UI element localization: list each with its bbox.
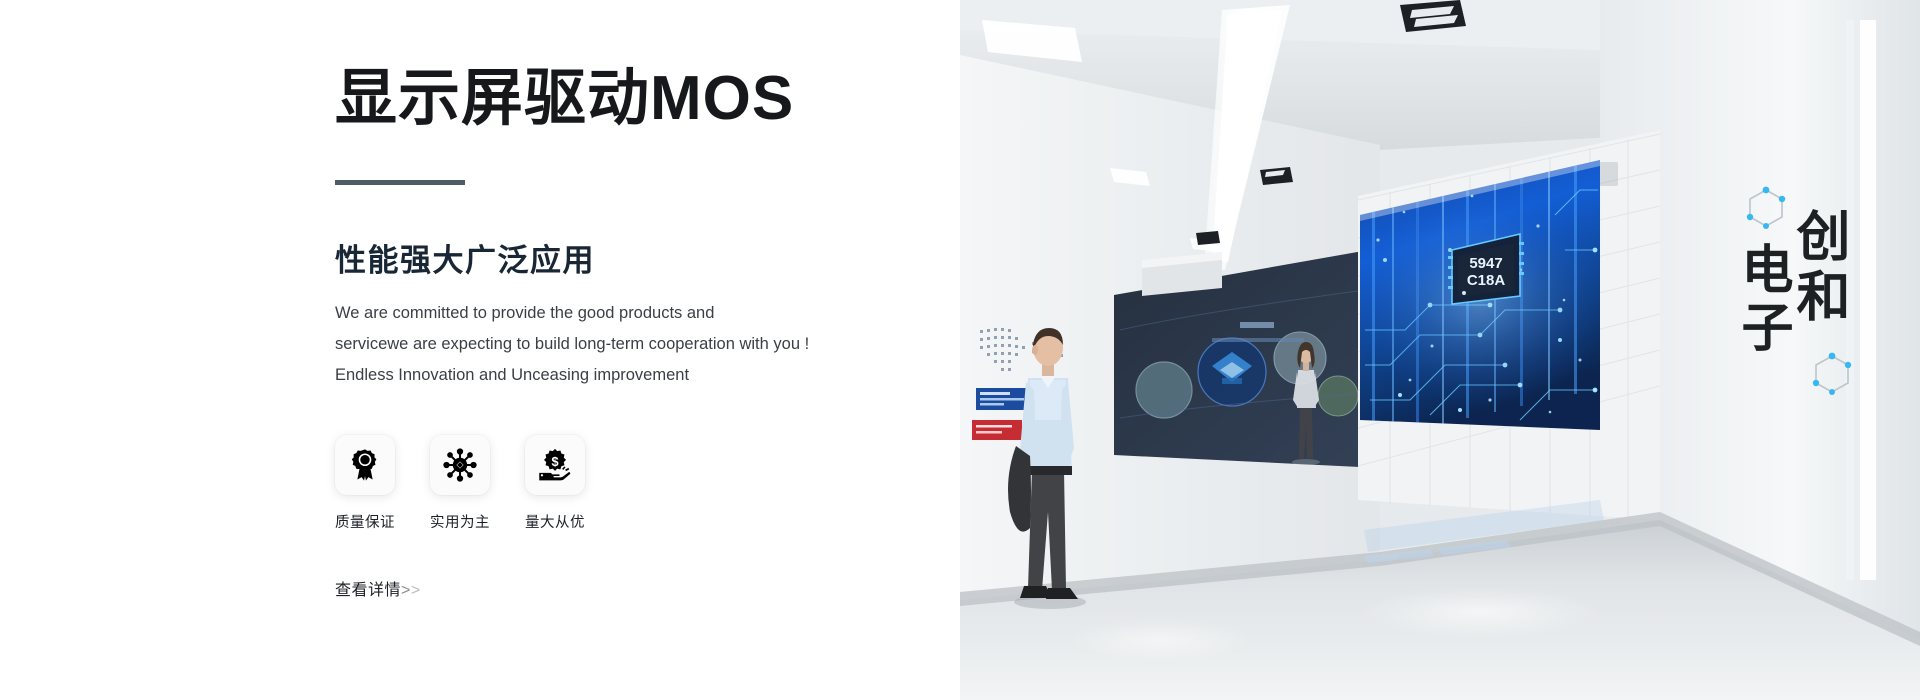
hero-subtitle: 性能强大广泛应用 [335,235,960,280]
network-nodes-icon [442,447,478,483]
showroom-illustration: 5947 C18A [960,0,1920,700]
page-title: 显示屏驱动MOS [335,62,960,136]
title-divider [335,180,465,185]
hero-description: We are committed to provide the good pro… [335,298,875,391]
feature-icon-tile [335,435,395,495]
feature-icon-tile [430,435,490,495]
feature-label: 实用为主 [430,511,525,532]
hero-banner: 显示屏驱动MOS 性能强大广泛应用 We are committed to pr… [0,0,1920,700]
chevron-right-icon-2: > [411,582,421,599]
feature-label: 量大从优 [525,511,620,532]
description-line-1: We are committed to provide the good pro… [335,298,875,329]
feature-item-bulk-discount[interactable]: $ 量大从优 [525,435,620,532]
chevron-right-icon-1: > [401,582,411,599]
description-line-3: Endless Innovation and Unceasing improve… [335,360,875,391]
award-badge-icon [347,447,383,483]
hand-money-icon: $ [537,447,573,483]
feature-list: 质量保证 [335,435,960,532]
feature-icon-tile: $ [525,435,585,495]
view-details-label: 查看详情 [335,582,401,599]
view-details-link[interactable]: 查看详情>> [335,576,421,600]
hero-text-panel: 显示屏驱动MOS 性能强大广泛应用 We are committed to pr… [0,0,960,700]
feature-item-practical[interactable]: 实用为主 [430,435,525,532]
feature-item-quality[interactable]: 质量保证 [335,435,430,532]
description-line-2: servicewe are expecting to build long-te… [335,329,875,360]
svg-text:$: $ [551,455,558,470]
feature-label: 质量保证 [335,511,430,532]
showroom-photograph: 5947 C18A [960,0,1920,700]
